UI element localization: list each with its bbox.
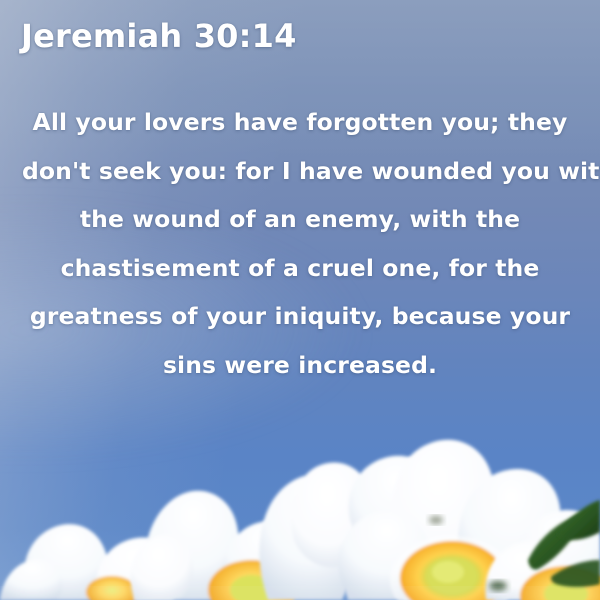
verse-text-block: All your lovers have forgotten you; they… bbox=[22, 98, 578, 389]
verse-line: don't seek you: for I have wounded you w… bbox=[22, 147, 578, 196]
verse-card: Jeremiah 30:14 All your lovers have forg… bbox=[0, 0, 600, 600]
verse-line: sins were increased. bbox=[22, 341, 578, 390]
verse-line: the wound of an enemy, with the bbox=[22, 195, 578, 244]
verse-line: greatness of your iniquity, because your bbox=[22, 292, 578, 341]
verse-line: chastisement of a cruel one, for the bbox=[22, 244, 578, 293]
verse-line: All your lovers have forgotten you; they bbox=[22, 98, 578, 147]
verse-reference-title: Jeremiah 30:14 bbox=[21, 17, 297, 55]
